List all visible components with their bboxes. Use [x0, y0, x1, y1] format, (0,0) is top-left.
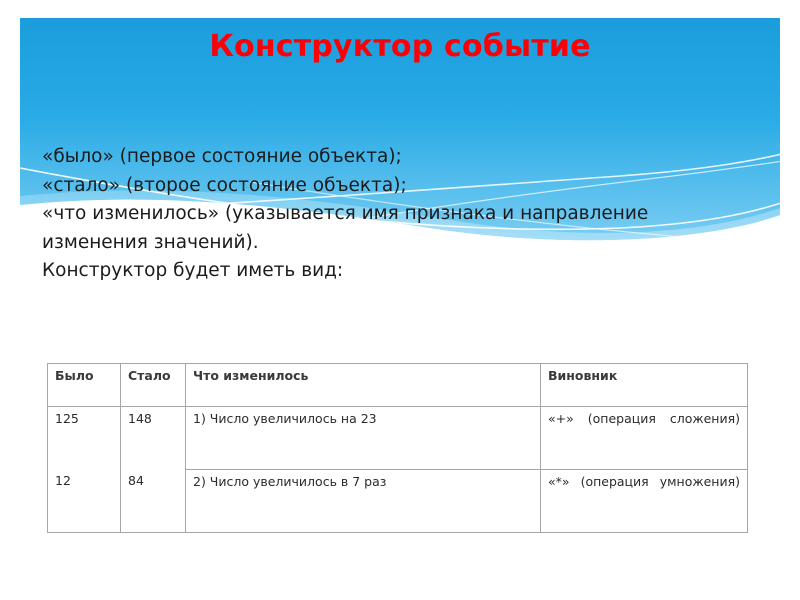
who-desc-row2: (операция умножения): [581, 474, 740, 489]
who-mark-row1: «+»: [548, 411, 574, 426]
table-header-became: Стало: [121, 364, 186, 407]
table-row: 125 12 148 84 1) Число увеличилось на 23…: [48, 407, 748, 470]
body-text-block: «было» (первое состояние объекта); «стал…: [42, 143, 742, 286]
who-desc-row1: (операция сложения): [588, 411, 740, 426]
slide: Конструктор событие «было» (первое состо…: [0, 0, 800, 600]
body-line-2: «стало» (второе состояние объекта);: [42, 172, 742, 201]
cell-became-merged: 148 84: [121, 407, 186, 533]
body-line-3: «что изменилось» (указывается имя призна…: [42, 200, 742, 257]
table-header-was: Было: [48, 364, 121, 407]
value-became-row2: 84: [128, 473, 178, 489]
table-header-what: Что изменилось: [186, 364, 541, 407]
cell-who-row2-content: «*» (операция умножения): [548, 474, 740, 506]
slide-title-text: Конструктор событие: [209, 30, 590, 63]
body-line-1: «было» (первое состояние объекта);: [42, 143, 742, 172]
cell-what-row1: 1) Число увеличилось на 23: [186, 407, 541, 470]
change-constructor-table: Было Стало Что изменилось Виновник 125 1…: [47, 363, 748, 533]
table-header-row: Было Стало Что изменилось Виновник: [48, 364, 748, 407]
cell-was-merged: 125 12: [48, 407, 121, 533]
who-mark-row2: «*»: [548, 474, 570, 489]
body-line-4: Конструктор будет иметь вид:: [42, 257, 742, 286]
cell-who-row1-content: «+» (операция сложения): [548, 411, 740, 443]
cell-what-row2: 2) Число увеличилось в 7 раз: [186, 470, 541, 533]
value-was-row1: 125: [55, 411, 113, 427]
value-was-row2: 12: [55, 473, 113, 489]
value-became-row1: 148: [128, 411, 178, 427]
slide-title: Конструктор событие: [20, 30, 780, 63]
cell-who-row1: «+» (операция сложения): [541, 407, 748, 470]
cell-who-row2: «*» (операция умножения): [541, 470, 748, 533]
table-header-who: Виновник: [541, 364, 748, 407]
